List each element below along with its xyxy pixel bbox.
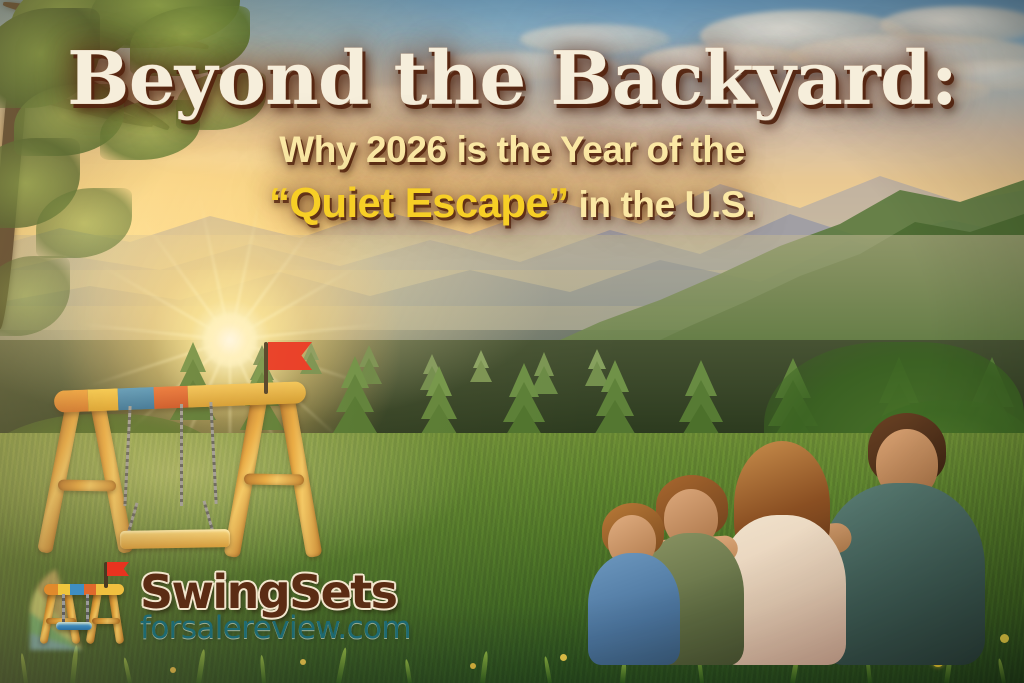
brand-domain: forsalereview.com (140, 613, 411, 644)
swing-crossbar-left (58, 479, 116, 491)
swing-seat (120, 529, 230, 549)
swing-chain-mid (180, 404, 183, 506)
swing-leg-left-front (37, 396, 82, 554)
person-younger-boy (588, 497, 680, 665)
family-group (588, 375, 988, 665)
site-logo[interactable]: SwingSets forsalereview.com (28, 548, 388, 648)
swing-set-logo-mark (28, 560, 136, 652)
swing-crossbar-right (244, 473, 304, 485)
logo-wordmark: SwingSets forsalereview.com (140, 569, 411, 644)
logo-swing-seat (56, 622, 92, 630)
brand-name: SwingSets (140, 569, 411, 615)
promo-banner: Beyond the Backyard: Why 2026 is the Yea… (0, 0, 1024, 683)
logo-flag-icon (107, 562, 129, 576)
foreground-tree (0, 0, 310, 418)
swing-chain-left (123, 406, 131, 506)
